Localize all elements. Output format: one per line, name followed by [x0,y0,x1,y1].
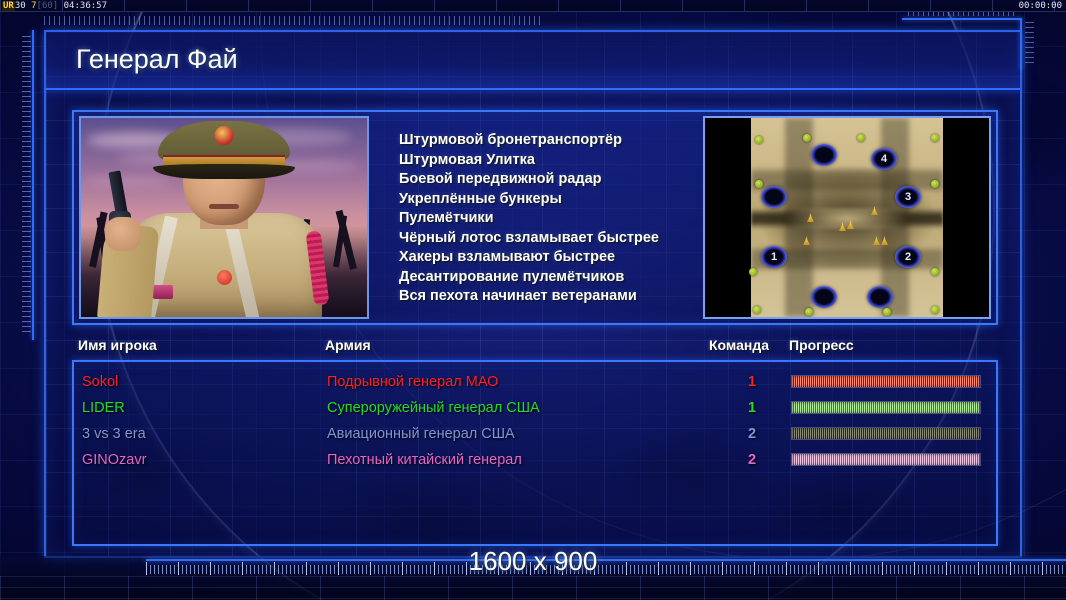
ability-item: Пулемётчики [399,209,703,228]
start-position[interactable] [867,286,893,308]
supply-dock-icon [803,134,811,142]
top-right-corner-accent-vertical [1020,18,1022,70]
fps-value: 30 [15,1,26,11]
column-header-player: Имя игрока [78,337,157,353]
medal [153,285,173,299]
start-position[interactable]: 4 [871,148,897,170]
letterbox-left [705,118,751,317]
ability-item: Укреплённые бункеры [399,190,703,209]
supply-dock-icon [755,180,763,188]
supply-dock-icon [753,306,761,314]
page-title: Генерал Фай [76,44,238,75]
ability-item: Боевой передвижной радар [399,170,703,189]
supply-dock-icon [857,134,865,142]
bottom-grid [0,576,1066,600]
progress-bar [791,427,981,440]
player-army: Супероружейный генерал США [327,396,540,420]
player-name: LIDER [82,396,125,420]
title-bar: Генерал Фай [46,32,1020,90]
supply-dock-icon [931,180,939,188]
player-army: Авиационный генерал США [327,422,515,446]
ability-item: Вся пехота начинает ветеранами [399,287,703,306]
top-right-ruler-vertical [1025,22,1034,66]
table-row[interactable]: GINOzavrПехотный китайский генерал2 [74,448,996,472]
progress-bar [791,375,981,388]
player-team: 2 [740,448,764,472]
start-position[interactable] [811,286,837,308]
letterbox-right [943,118,989,317]
start-position[interactable]: 2 [895,246,921,268]
players-table-body: SokolПодрывной генерал МАО1LIDERСуперору… [74,370,996,472]
player-name: 3 vs 3 era [82,422,146,446]
main-panel: Генерал Фай [44,30,1022,558]
progress-bar-fill [792,428,980,439]
supply-dock-icon [755,136,763,144]
game-clock: 00:00:00 [1019,0,1062,12]
player-name: GINOzavr [82,448,146,472]
player-army: Подрывной генерал МАО [327,370,498,394]
medal [217,270,232,285]
supply-dock-icon [931,306,939,314]
map-river [751,208,943,230]
table-row[interactable]: SokolПодрывной генерал МАО1 [74,370,996,394]
column-header-army: Армия [325,337,371,353]
game-lobby-screen: UR30 7[60] 04:36:57 00:00:00 Генерал Фай [0,0,1066,600]
performance-readout: UR30 7[60] 04:36:57 [2,0,107,12]
supply-dock-icon [805,308,813,316]
players-table-header: Имя игрока Армия Команда Прогресс [72,337,998,359]
ability-item: Десантирование пулемётчиков [399,268,703,287]
draw-max: [60] [37,1,59,11]
progress-bar-fill [792,454,980,465]
player-team: 2 [740,422,764,446]
start-position[interactable]: 3 [895,186,921,208]
start-position[interactable]: 1 [761,246,787,268]
progress-bar [791,453,981,466]
session-time: 04:36:57 [64,1,107,11]
ability-item: Штурмовой бронетранспортёр [399,131,703,150]
ability-item: Штурмовая Улитка [399,151,703,170]
supply-dock-icon [749,268,757,276]
top-right-corner-accent-horizontal [902,18,1022,20]
table-row[interactable]: 3 vs 3 eraАвиационный генерал США2 [74,422,996,446]
top-ruler-decoration [44,16,544,25]
left-ruler-decoration [22,36,31,336]
fps-label: UR [2,1,15,11]
supply-dock-icon [931,268,939,276]
progress-bar-fill [792,402,980,413]
hand [105,217,141,251]
players-table: SokolПодрывной генерал МАО1LIDERСуперору… [72,360,998,546]
player-army: Пехотный китайский генерал [327,448,522,472]
column-header-team: Команда [709,337,769,353]
start-position[interactable] [761,186,787,208]
player-team: 1 [740,396,764,420]
ability-item: Хакеры взламывают быстрее [399,248,703,267]
cap-brim [153,164,295,179]
player-team: 1 [740,370,764,394]
start-position[interactable] [811,144,837,166]
general-figure [99,153,349,319]
player-name: Sokol [82,370,118,394]
topbar-tick-marks [0,0,1066,11]
supply-dock-icon [931,134,939,142]
supply-dock-icon [883,308,891,316]
ability-item: Чёрный лотос взламывает быстрее [399,229,703,248]
general-abilities-list: Штурмовой бронетранспортёр Штурмовая Ули… [369,115,703,306]
mouth [209,204,239,209]
column-header-progress: Прогресс [789,337,854,353]
progress-bar-fill [792,376,980,387]
top-status-bar: UR30 7[60] 04:36:57 00:00:00 [0,0,1066,12]
general-info-panel: Штурмовой бронетранспортёр Штурмовая Ули… [72,110,998,325]
map-preview[interactable]: 4 3 1 2 [703,116,991,319]
general-portrait [79,116,369,319]
left-accent-line [32,30,34,340]
table-row[interactable]: LIDERСупероружейный генерал США1 [74,396,996,420]
cap-badge-icon [215,126,234,145]
progress-bar [791,401,981,414]
resolution-label: 1600 x 900 [0,546,1066,577]
